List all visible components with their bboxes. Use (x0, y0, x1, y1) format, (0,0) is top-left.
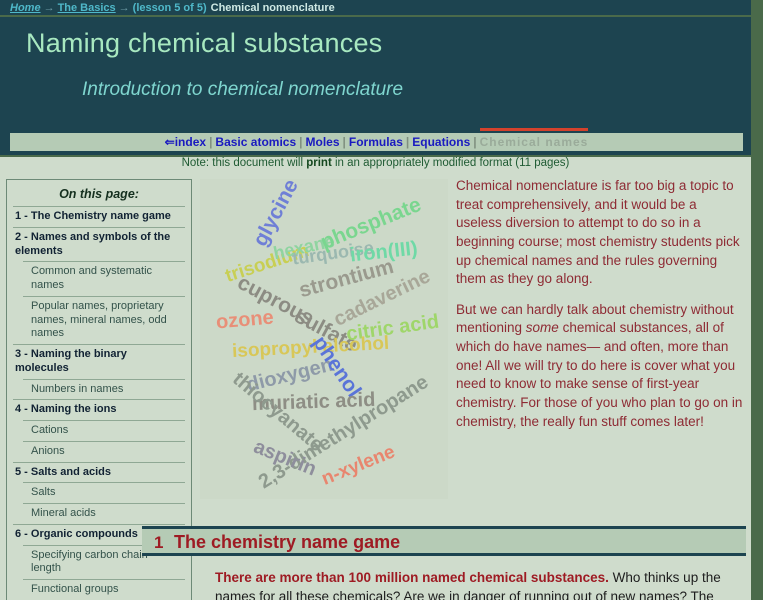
nav-item-chemical-names-current: Chemical names (480, 135, 589, 149)
nav-separator: | (470, 135, 479, 149)
print-note: Note: this document will print in an app… (0, 157, 751, 173)
page-title: Naming chemical substances (26, 28, 382, 59)
section-1-lead: There are more than 100 million named ch… (215, 570, 609, 585)
intro-p2-part-b: chemical substances, all of which do hav… (456, 320, 742, 428)
toc-item-numbers-in-names[interactable]: Numbers in names (23, 379, 185, 400)
print-note-after: in an appropriately modified format (11 … (332, 157, 570, 169)
page-root: Home→The Basics→(lesson 5 of 5)Chemical … (0, 0, 763, 600)
section-1-title: The chemistry name game (174, 532, 400, 553)
cloud-word-ozone: ozone (215, 307, 275, 335)
intro-p2-emphasis: some (526, 320, 559, 335)
breadcrumb-arrow-2: → (116, 2, 133, 14)
toc-item-common-and-systematic-names[interactable]: Common and systematic names (23, 261, 185, 296)
breadcrumb-bar: Home→The Basics→(lesson 5 of 5)Chemical … (0, 0, 763, 15)
nav-bar: ⇐index|Basic atomics|Moles|Formulas|Equa… (8, 131, 745, 153)
nav-separator: | (296, 135, 305, 149)
nav-current-underline (480, 128, 589, 131)
toc-item-popular-names-proprietary-names-mineral-[interactable]: Popular names, proprietary names, minera… (23, 296, 185, 344)
toc-item-1-the-chemistry-name-game[interactable]: 1 - The Chemistry name game (13, 206, 185, 227)
page-right-edge (751, 0, 763, 600)
section-1-heading: 1 The chemistry name game (142, 526, 746, 556)
toc-item-5-salts-and-acids[interactable]: 5 - Salts and acids (13, 462, 185, 483)
nav-item-moles[interactable]: Moles (306, 135, 340, 149)
toc-title: On this page: (7, 184, 191, 206)
intro-paragraph-2: But we can hardly talk about chemistry w… (456, 301, 744, 431)
toc-item-functional-groups[interactable]: Functional groups (23, 579, 185, 600)
intro-paragraph-1: Chemical nomenclature is far too big a t… (456, 177, 744, 289)
breadcrumb-current: Chemical nomenclature (207, 2, 335, 14)
breadcrumb: Home→The Basics→(lesson 5 of 5)Chemical … (0, 2, 763, 14)
toc-item-3-naming-the-binary-molecules[interactable]: 3 - Naming the binary molecules (13, 344, 185, 379)
page-subtitle: Introduction to chemical nomenclature (82, 79, 403, 101)
nav-item-index[interactable]: ⇐index (165, 135, 206, 149)
nav-item-formulas[interactable]: Formulas (349, 135, 403, 149)
nav-separator: | (403, 135, 412, 149)
intro-text: Chemical nomenclature is far too big a t… (456, 177, 744, 443)
nav-band: ⇐index|Basic atomics|Moles|Formulas|Equa… (0, 127, 763, 155)
section-1-number: 1 (154, 533, 163, 553)
toc-item-mineral-acids[interactable]: Mineral acids (23, 503, 185, 524)
print-note-bold: print (306, 157, 332, 169)
breadcrumb-link-home[interactable]: Home (10, 2, 41, 14)
nav-item-equations[interactable]: Equations (412, 135, 470, 149)
toc-item-cations[interactable]: Cations (23, 420, 185, 441)
breadcrumb-arrow-1: → (41, 2, 58, 14)
print-note-before: Note: this document will (182, 157, 307, 169)
toc-item-2-names-and-symbols-of-the-elements[interactable]: 2 - Names and symbols of the elements (13, 227, 185, 262)
toc-item-anions[interactable]: Anions (23, 441, 185, 462)
nav-item-basic-atomics[interactable]: Basic atomics (215, 135, 296, 149)
section-1-body: There are more than 100 million named ch… (215, 568, 745, 600)
content-area: On this page: 1 - The Chemistry name gam… (0, 173, 751, 600)
title-banner: Naming chemical substances Introduction … (0, 17, 763, 127)
toc-item-4-naming-the-ions[interactable]: 4 - Naming the ions (13, 399, 185, 420)
breadcrumb-lesson-counter: (lesson 5 of 5) (133, 2, 207, 14)
breadcrumb-link-the-basics[interactable]: The Basics (58, 2, 116, 14)
word-cloud-image: glycinetrisodiumhexaneturquoisephosphate… (200, 179, 448, 499)
toc-item-salts[interactable]: Salts (23, 482, 185, 503)
nav-items: ⇐index|Basic atomics|Moles|Formulas|Equa… (10, 135, 743, 149)
nav-separator: | (340, 135, 349, 149)
